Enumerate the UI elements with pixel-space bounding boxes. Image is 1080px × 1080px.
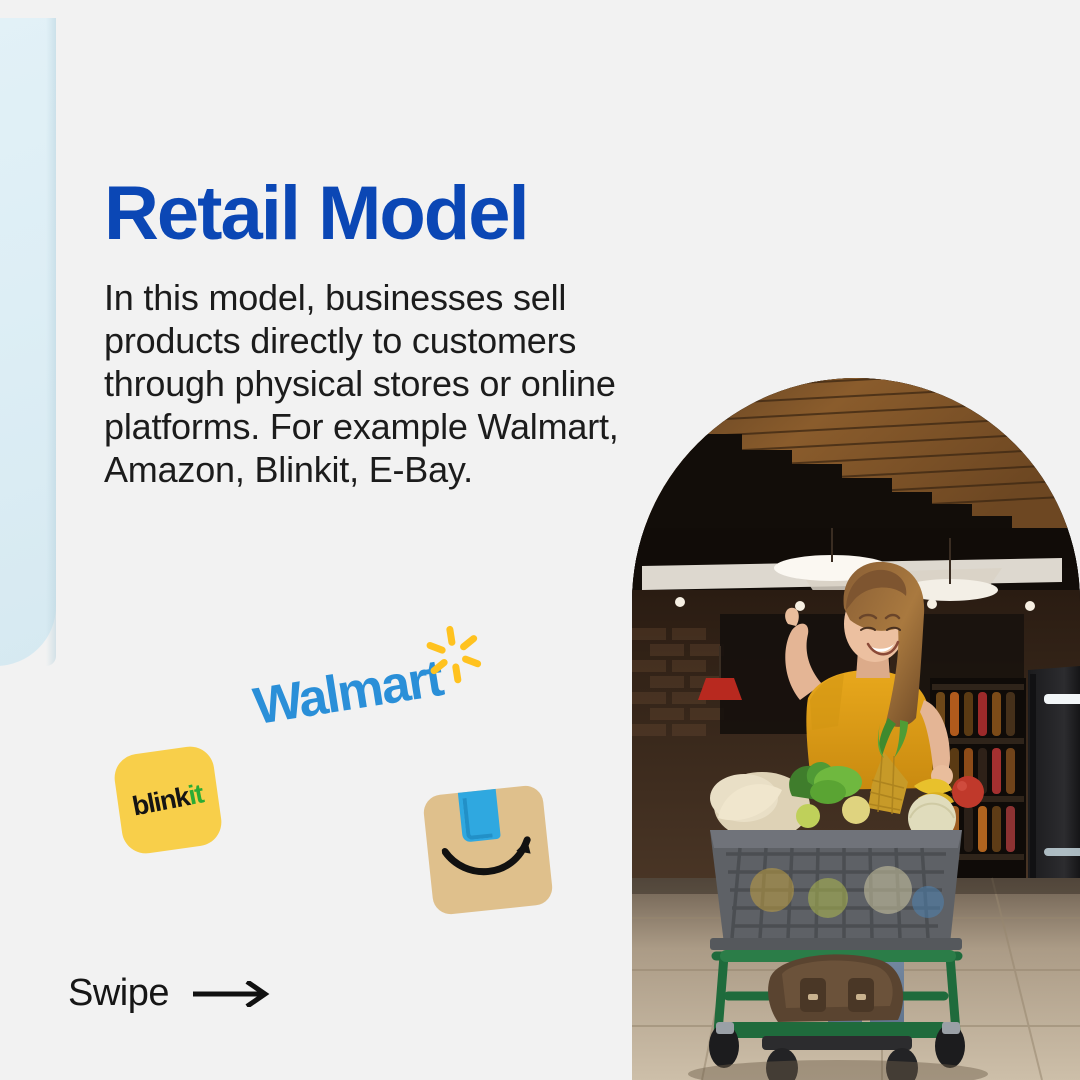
amazon-logo [422,784,554,916]
amazon-box-tape-icon [458,787,501,843]
walmart-spark-icon [416,617,492,693]
hero-photo [632,378,1080,1080]
body-paragraph: In this model, businesses sell products … [104,276,664,491]
swipe-label: Swipe [68,972,169,1015]
blinkit-wordmark-primary: blink [130,781,192,821]
hero-photo-illustration [632,378,1080,1080]
walmart-wordmark: Walmart [249,648,445,737]
swipe-cta[interactable]: Swipe [68,972,275,1015]
slide-canvas: Retail Model In this model, businesses s… [0,0,1080,1080]
decorative-blue-panel [0,18,56,666]
walmart-logo: Walmart [246,619,507,749]
blinkit-logo: blinkit [112,744,225,857]
arrow-right-icon [191,981,275,1007]
page-title: Retail Model [104,176,528,252]
amazon-smile-icon [441,833,537,888]
blinkit-wordmark: blinkit [130,778,206,822]
